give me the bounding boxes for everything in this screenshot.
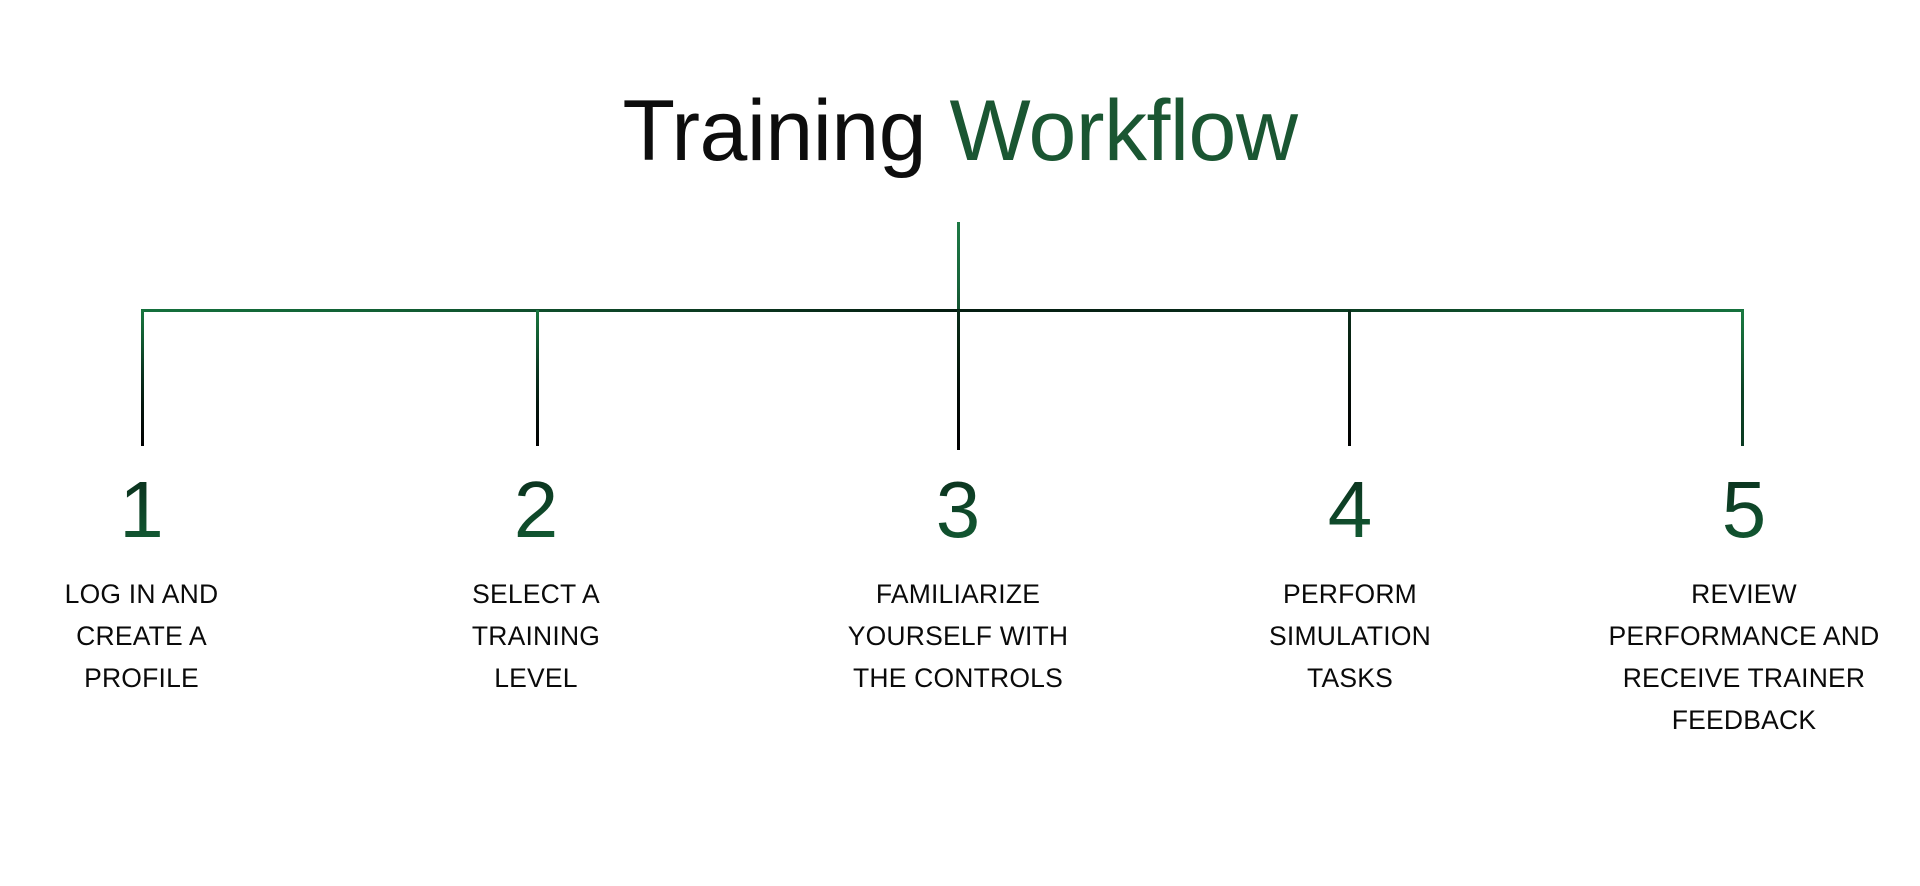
- tick-line-step-4: [1348, 310, 1351, 446]
- step-caption-3: FAMILIARIZE YOURSELF WITH THE CONTROLS: [800, 574, 1116, 700]
- step-number-1: 1: [0, 470, 283, 562]
- step-caption-4-line-1: PERFORM: [1205, 574, 1495, 616]
- title-word-accent: Workflow: [949, 83, 1297, 179]
- step-caption-2: SELECT A TRAINING LEVEL: [392, 574, 680, 700]
- step-caption-3-line-3: THE CONTROLS: [800, 658, 1116, 700]
- step-caption-5-line-3: RECEIVE TRAINER: [1570, 658, 1918, 700]
- tick-line-step-2: [536, 310, 539, 446]
- step-item-4[interactable]: 4 PERFORM SIMULATION TASKS: [1205, 470, 1495, 700]
- steps-container: 1 LOG IN AND CREATE A PROFILE 2 SELECT A…: [0, 470, 1920, 730]
- step-number-5: 5: [1570, 470, 1918, 562]
- step-item-5[interactable]: 5 REVIEW PERFORMANCE AND RECEIVE TRAINER…: [1570, 470, 1918, 741]
- step-caption-3-line-2: YOURSELF WITH: [800, 616, 1116, 658]
- diagram-canvas: Training Workflow 1 LOG IN AND CREATE A …: [0, 0, 1920, 886]
- step-caption-5-line-1: REVIEW: [1570, 574, 1918, 616]
- step-item-1[interactable]: 1 LOG IN AND CREATE A PROFILE: [0, 470, 283, 700]
- timeline-rail: [141, 309, 1744, 312]
- step-caption-2-line-2: TRAINING: [392, 616, 680, 658]
- step-number-2: 2: [392, 470, 680, 562]
- step-caption-1-line-2: CREATE A: [0, 616, 283, 658]
- step-item-2[interactable]: 2 SELECT A TRAINING LEVEL: [392, 470, 680, 700]
- step-caption-1-line-3: PROFILE: [0, 658, 283, 700]
- step-caption-4: PERFORM SIMULATION TASKS: [1205, 574, 1495, 700]
- step-number-3: 3: [800, 470, 1116, 562]
- title-word-primary: Training: [623, 83, 927, 179]
- step-item-3[interactable]: 3 FAMILIARIZE YOURSELF WITH THE CONTROLS: [800, 470, 1116, 700]
- tick-line-step-3: [957, 310, 960, 446]
- step-number-4: 4: [1205, 470, 1495, 562]
- tick-line-step-5: [1741, 310, 1744, 446]
- step-caption-5-line-4: FEEDBACK: [1570, 700, 1918, 742]
- tick-line-step-1: [141, 310, 144, 446]
- step-caption-2-line-1: SELECT A: [392, 574, 680, 616]
- step-caption-5: REVIEW PERFORMANCE AND RECEIVE TRAINER F…: [1570, 574, 1918, 741]
- page-title: Training Workflow: [0, 86, 1920, 176]
- step-caption-2-line-3: LEVEL: [392, 658, 680, 700]
- step-caption-3-line-1: FAMILIARIZE: [800, 574, 1116, 616]
- step-caption-1-line-1: LOG IN AND: [0, 574, 283, 616]
- step-caption-1: LOG IN AND CREATE A PROFILE: [0, 574, 283, 700]
- step-caption-5-line-2: PERFORMANCE AND: [1570, 616, 1918, 658]
- title-space: [926, 83, 949, 179]
- step-caption-4-line-3: TASKS: [1205, 658, 1495, 700]
- step-caption-4-line-2: SIMULATION: [1205, 616, 1495, 658]
